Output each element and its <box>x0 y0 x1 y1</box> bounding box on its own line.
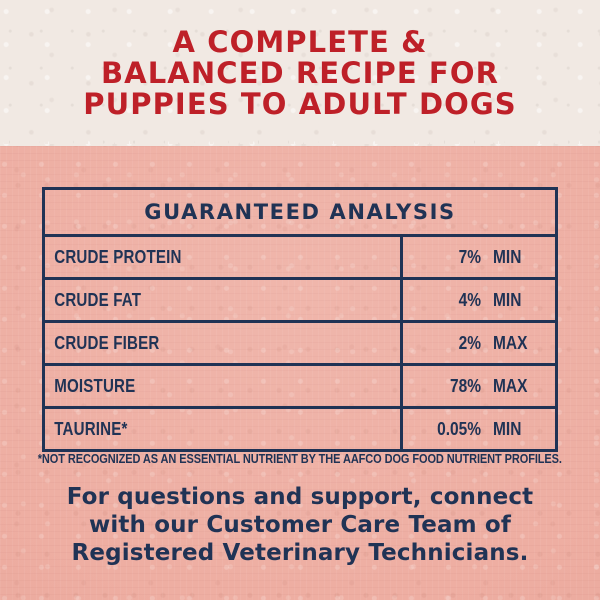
table-row: CRUDE FAT 4% MIN <box>45 280 555 323</box>
table-row: CRUDE PROTEIN 7% MIN <box>45 237 555 280</box>
nutrient-name: CRUDE PROTEIN <box>45 237 343 277</box>
taurine-footnote: *NOT RECOGNIZED AS AN ESSENTIAL NUTRIENT… <box>0 452 600 466</box>
page-title-line-2: BALANCED RECIPE FOR <box>0 58 600 89</box>
nutrient-value-cell: 2% MAX <box>400 323 555 363</box>
page-title-line-1: A COMPLETE & <box>0 27 600 58</box>
customer-care-message: For questions and support, connect with … <box>0 483 600 567</box>
nutrient-name: TAURINE* <box>45 409 343 449</box>
nutrient-name: CRUDE FIBER <box>45 323 343 363</box>
nutrient-amount: 0.05% <box>414 419 481 440</box>
table-row: TAURINE* 0.05% MIN <box>45 409 555 449</box>
pet-food-label-panel: A COMPLETE & BALANCED RECIPE FOR PUPPIES… <box>0 0 600 600</box>
customer-care-line-1: For questions and support, connect <box>0 483 600 511</box>
page-title: A COMPLETE & BALANCED RECIPE FOR PUPPIES… <box>0 27 600 120</box>
nutrient-limit: MIN <box>481 419 545 440</box>
nutrient-limit: MAX <box>481 333 545 354</box>
nutrient-value-cell: 0.05% MIN <box>400 409 555 449</box>
nutrient-amount: 4% <box>414 290 481 311</box>
nutrient-value-cell: 7% MIN <box>400 237 555 277</box>
torn-paper-edge <box>0 140 600 148</box>
table-row: CRUDE FIBER 2% MAX <box>45 323 555 366</box>
customer-care-line-2: with our Customer Care Team of <box>0 511 600 539</box>
nutrient-amount: 2% <box>414 333 481 354</box>
guaranteed-analysis-table: GUARANTEED ANALYSIS CRUDE PROTEIN 7% MIN… <box>42 187 558 452</box>
nutrient-name: CRUDE FAT <box>45 280 343 320</box>
nutrient-limit: MIN <box>481 247 545 268</box>
customer-care-line-3: Registered Veterinary Technicians. <box>0 539 600 567</box>
nutrient-limit: MIN <box>481 290 545 311</box>
nutrient-value-cell: 4% MIN <box>400 280 555 320</box>
taurine-footnote-text: *NOT RECOGNIZED AS AN ESSENTIAL NUTRIENT… <box>38 452 562 466</box>
nutrient-value-cell: 78% MAX <box>400 366 555 406</box>
nutrient-amount: 78% <box>414 376 481 397</box>
nutrient-name: MOISTURE <box>45 366 343 406</box>
nutrient-limit: MAX <box>481 376 545 397</box>
table-row: MOISTURE 78% MAX <box>45 366 555 409</box>
guaranteed-analysis-title: GUARANTEED ANALYSIS <box>45 190 555 237</box>
nutrient-amount: 7% <box>414 247 481 268</box>
page-title-line-3: PUPPIES TO ADULT DOGS <box>0 89 600 120</box>
